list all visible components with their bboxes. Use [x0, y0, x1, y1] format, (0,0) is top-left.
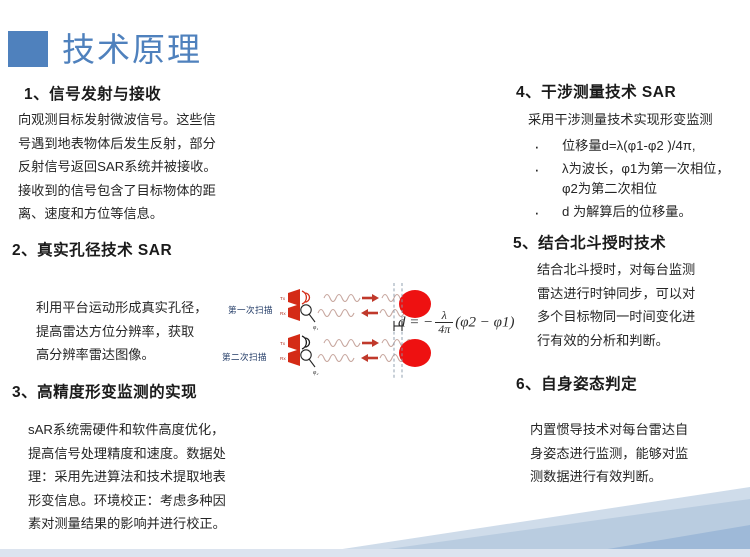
list-item: 位移量d=λ(φ1-φ2 )/4π,	[528, 136, 744, 156]
section-1-line: 接收到的信号包含了目标物体的距	[18, 179, 236, 203]
section-1-line: 反射信号返回SAR系统并被接收。	[18, 155, 236, 179]
target-object-2	[399, 339, 431, 367]
section-4-intro: 采用干涉测量技术实现形变监测	[528, 108, 744, 132]
section-2-line: 提高雷达方位分辨率，获取	[36, 320, 236, 344]
section-5-heading: 5、结合北斗授时技术	[513, 231, 666, 253]
title-accent-square	[8, 31, 48, 67]
section-3-line: sAR系统需硬件和软件高度优化，	[28, 418, 250, 442]
section-5-line: 多个目标物同一时间变化进	[537, 305, 739, 329]
section-5-line: 结合北斗授时，对每台监测	[537, 258, 739, 282]
receive-wave-1	[318, 310, 354, 317]
receive-arrow-1	[361, 309, 378, 317]
formula-numerator: λ	[435, 309, 453, 323]
section-6-line: 身姿态进行监测，能够对监	[530, 442, 730, 466]
rx-antenna-icon-1	[288, 304, 315, 322]
section-6-body: 内置惯导技术对每台雷达自 身姿态进行监测，能够对监 测数据进行有效判断。	[530, 418, 730, 489]
rx-antenna-icon-2	[288, 349, 315, 367]
insar-scan-diagram: 第一次扫描 第二次扫描 Tx Rx φ₁	[222, 283, 512, 383]
section-6-line: 内置惯导技术对每台雷达自	[530, 418, 730, 442]
page-title: 技术原理	[62, 33, 202, 66]
section-5-line: 行有效的分析和判断。	[537, 329, 739, 353]
section-1-body: 向观测目标发射微波信号。这些信 号遇到地表物体后发生反射，部分 反射信号返回SA…	[18, 108, 236, 226]
section-1-line: 号遇到地表物体后发生反射，部分	[18, 132, 236, 156]
formula-group: (φ2 − φ1)	[455, 314, 514, 330]
formula-equals: = −	[409, 314, 433, 330]
rx-label-1: Rx	[280, 311, 286, 316]
section-3-heading: 3、高精度形变监测的实现	[12, 380, 197, 402]
section-1-heading: 1、信号发射与接收	[24, 82, 161, 104]
bottom-decoration-ribbon	[0, 485, 750, 557]
receive-arrow-2	[361, 354, 378, 362]
section-4-heading: 4、干涉测量技术 SAR	[516, 80, 676, 102]
rx-label-2: Rx	[280, 356, 286, 361]
transmit-arrow-1	[362, 294, 379, 302]
section-5-body: 结合北斗授时，对每台监测 雷达进行时钟同步，可以对 多个目标物同一时间变化进 行…	[537, 258, 739, 352]
tx-label-1: Tx	[280, 296, 286, 301]
section-1-line: 向观测目标发射微波信号。这些信	[18, 108, 236, 132]
section-2-body: 利用平台运动形成真实孔径， 提高雷达方位分辨率，获取 高分辨率雷达图像。	[36, 296, 236, 367]
tx-antenna-icon-1	[288, 289, 310, 306]
section-4-body: 采用干涉测量技术实现形变监测 位移量d=λ(φ1-φ2 )/4π, λ为波长，φ…	[528, 108, 744, 225]
section-5-line: 雷达进行时钟同步，可以对	[537, 282, 739, 306]
formula-fraction: λ4π	[435, 309, 453, 337]
phase-label-1: φ₁	[313, 325, 318, 331]
formula-lhs: d	[398, 314, 406, 330]
tx-label-2: Tx	[280, 341, 286, 346]
transmit-wave-2	[324, 340, 360, 347]
section-6-heading: 6、自身姿态判定	[516, 372, 637, 394]
section-4-bullet-list: 位移量d=λ(φ1-φ2 )/4π, λ为波长，φ1为第一次相位，φ2为第二次相…	[528, 136, 744, 222]
tx-antenna-icon-2	[288, 334, 310, 351]
section-3-line: 提高信号处理精度和速度。数据处	[28, 442, 250, 466]
list-item: d 为解算后的位移量。	[528, 202, 744, 222]
scan-label-first: 第一次扫描	[228, 304, 273, 316]
section-1-line: 离、速度和方位等信息。	[18, 202, 236, 226]
receive-wave-2	[318, 355, 354, 362]
page-title-bar: 技术原理	[0, 28, 202, 70]
transmit-arrow-2	[362, 339, 379, 347]
formula-denominator: 4π	[435, 323, 453, 336]
section-2-heading: 2、真实孔径技术 SAR	[12, 238, 172, 260]
phase-label-2: φ₂	[313, 370, 318, 376]
list-item: λ为波长，φ1为第一次相位，φ2为第二次相位	[528, 159, 744, 199]
section-2-line: 高分辨率雷达图像。	[36, 343, 236, 367]
scan-label-second: 第二次扫描	[222, 351, 267, 363]
bottom-strip	[0, 549, 750, 557]
transmit-wave-1	[324, 295, 360, 302]
section-2-line: 利用平台运动形成真实孔径，	[36, 296, 236, 320]
displacement-formula: d = −λ4π(φ2 − φ1)	[398, 309, 514, 337]
